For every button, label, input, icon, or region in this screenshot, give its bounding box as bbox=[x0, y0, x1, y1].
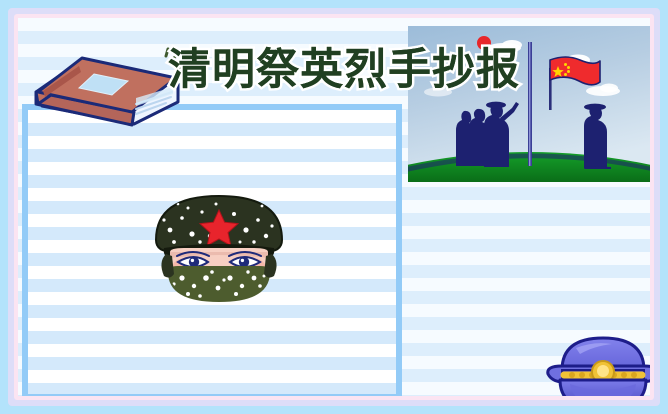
handwritten-newspaper-poster: 清明祭英烈手抄报 清明祭英烈手抄报 bbox=[0, 0, 668, 414]
china-flag-icon bbox=[542, 48, 604, 110]
soldier-winter-hat-face bbox=[144, 190, 294, 306]
officer-cap-icon bbox=[542, 330, 650, 396]
page-title: 清明祭英烈手抄报 bbox=[168, 44, 520, 96]
paper-surface: 清明祭英烈手抄报 清明祭英烈手抄报 bbox=[18, 18, 650, 396]
book-icon bbox=[32, 46, 184, 130]
